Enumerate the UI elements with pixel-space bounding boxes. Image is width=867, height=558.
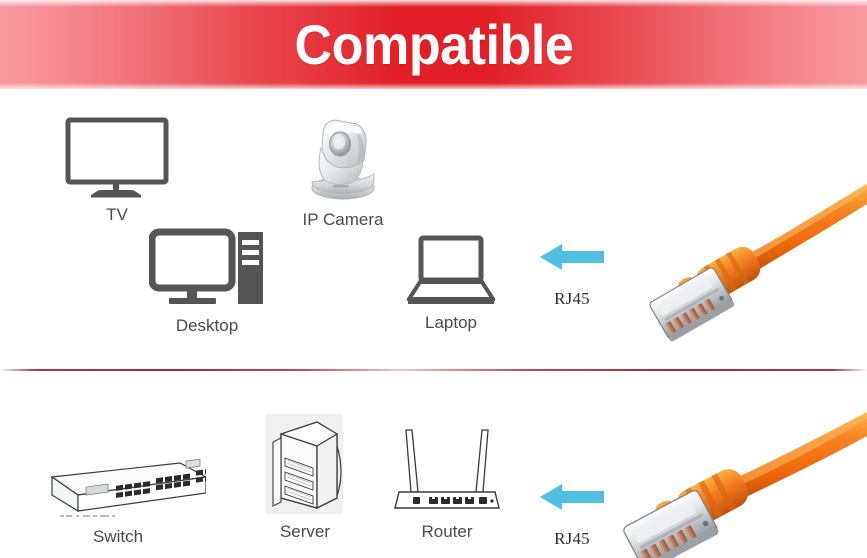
ip-camera-icon: [297, 112, 389, 204]
rj45-label: RJ45: [554, 289, 590, 308]
arrow-left-icon: [540, 241, 604, 273]
device-label: IP Camera: [303, 210, 384, 230]
compatibility-diagram: Compatible TV Desktop: [0, 0, 867, 558]
wifi-router-icon: [389, 422, 505, 516]
page-title: Compatible: [294, 17, 573, 73]
device-desktop: Desktop: [148, 228, 266, 336]
device-label: Router: [421, 522, 472, 542]
device-server: Server: [262, 412, 348, 542]
desktop-computer-icon: [149, 228, 265, 310]
ethernet-cable-bottom: [618, 398, 867, 558]
laptop-icon: [407, 235, 495, 307]
section-divider: [0, 369, 867, 371]
rj45-connector-bottom: RJ45: [534, 481, 610, 548]
device-router: Router: [388, 422, 506, 542]
rj45-label: RJ45: [554, 529, 590, 548]
device-ip-camera: IP Camera: [297, 112, 389, 230]
device-label: Desktop: [176, 316, 238, 336]
device-label: Server: [280, 522, 330, 542]
network-switch-icon: [30, 455, 206, 521]
rj45-connector-top: RJ45: [534, 241, 610, 308]
ethernet-cable-top: [640, 180, 867, 365]
ethernet-cable-orange: [640, 180, 867, 360]
arrow-left-icon: [540, 481, 604, 513]
ethernet-cable-orange: [618, 398, 867, 558]
server-rack-icon: [263, 412, 347, 516]
tv-icon: [65, 117, 169, 199]
header-banner: Compatible: [0, 0, 867, 89]
device-label: TV: [106, 205, 128, 225]
device-switch: Switch: [28, 455, 208, 547]
device-laptop: Laptop: [406, 235, 496, 333]
device-label: Switch: [93, 527, 143, 547]
device-label: Laptop: [425, 313, 477, 333]
device-tv: TV: [62, 117, 172, 225]
